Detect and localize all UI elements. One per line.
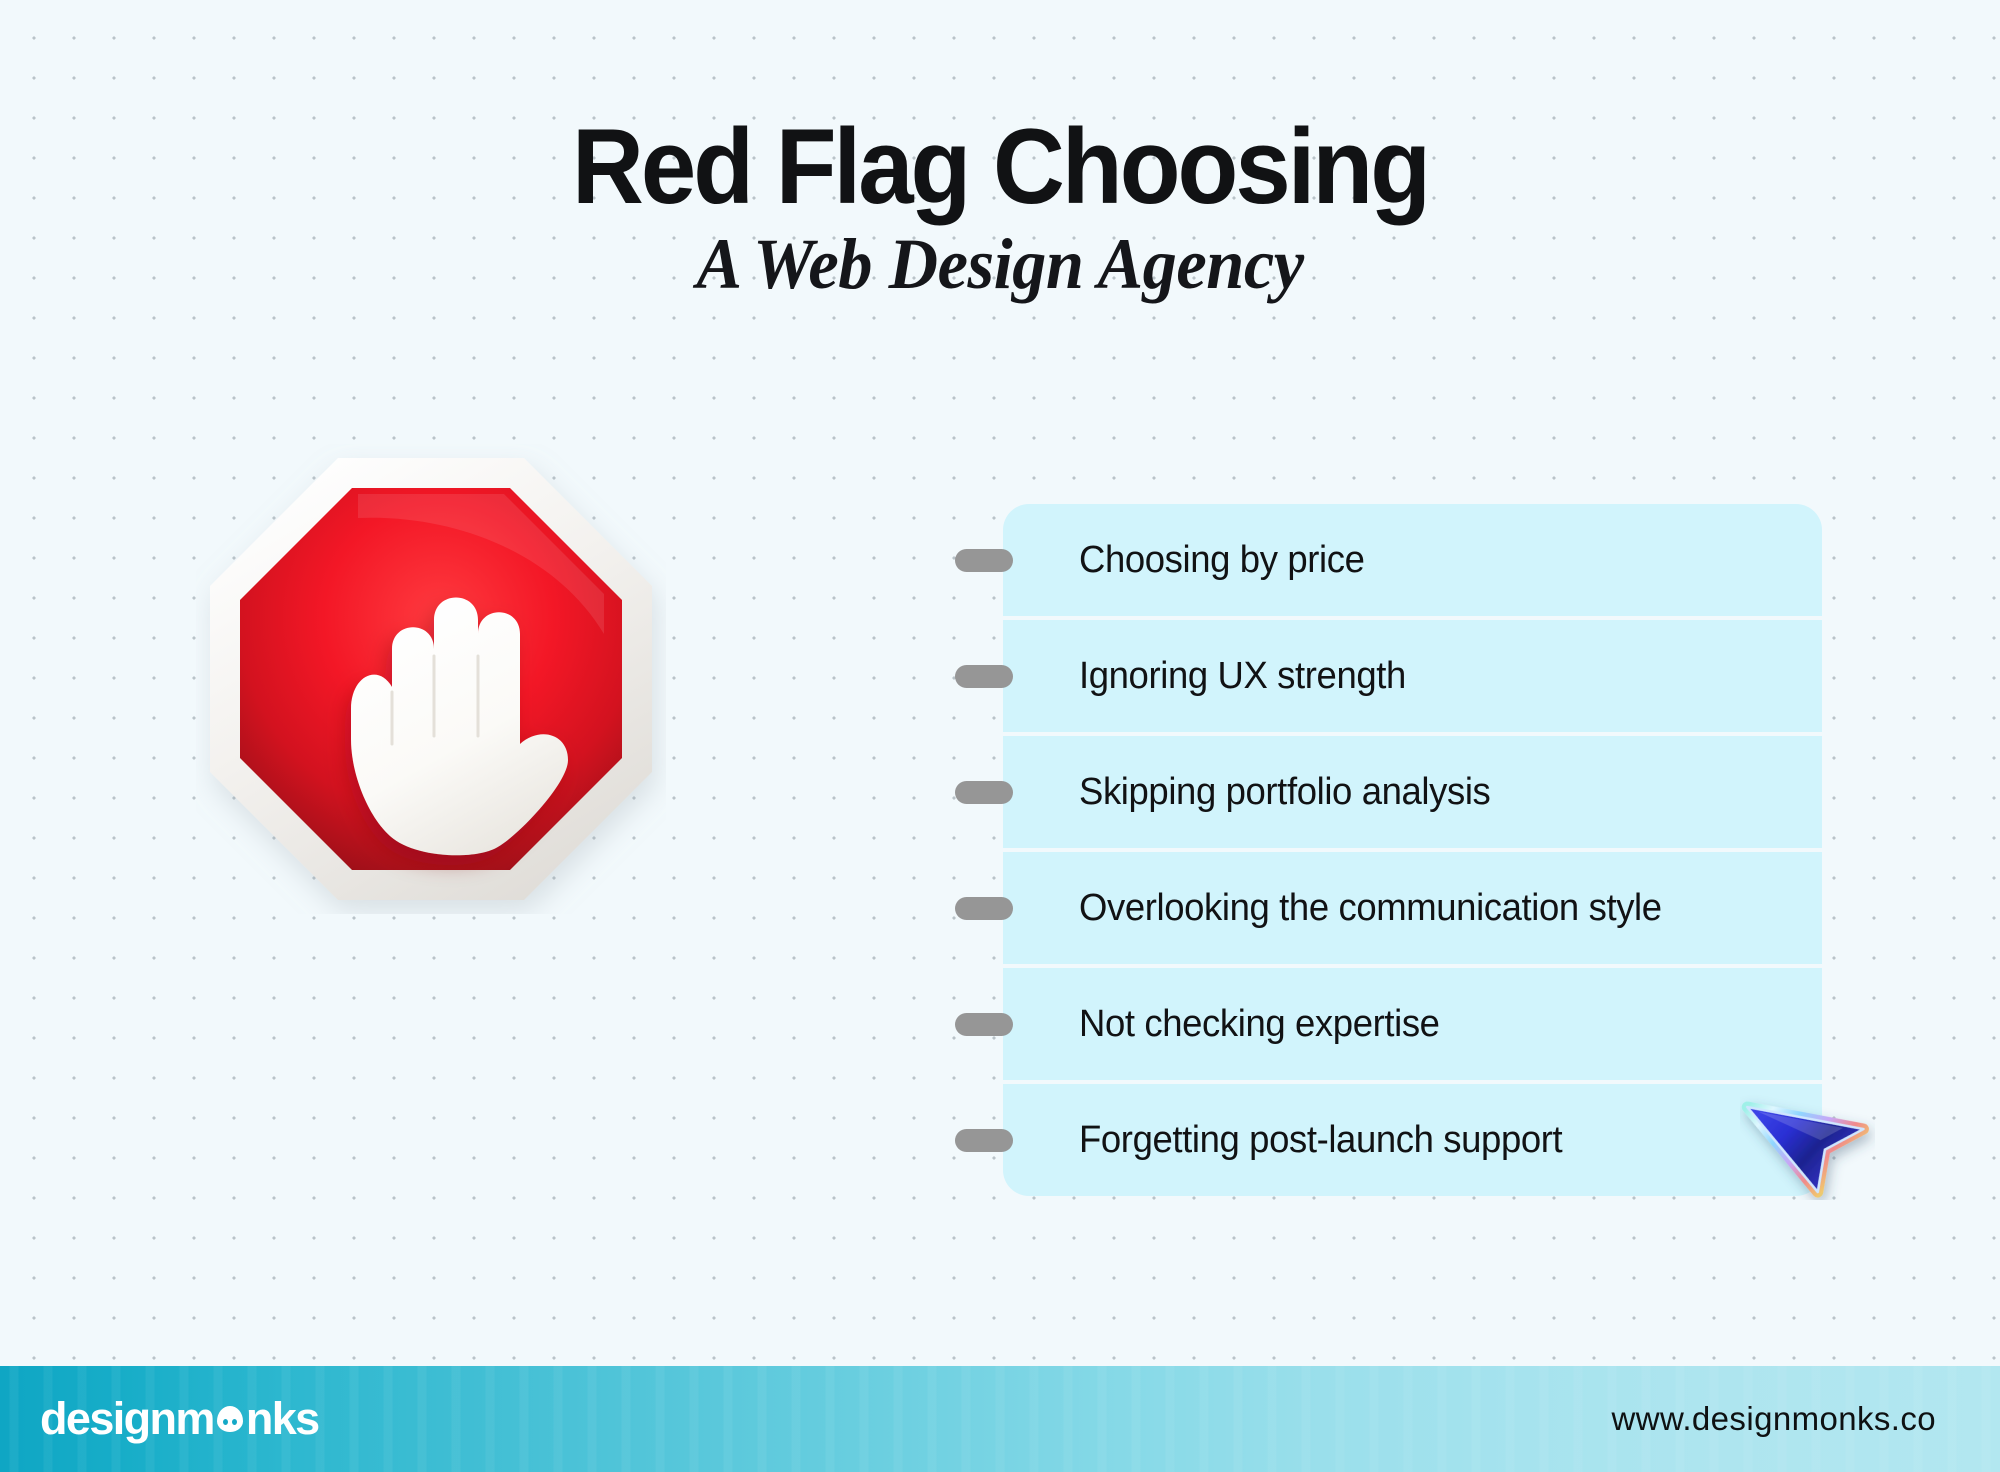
list-item[interactable]: Not checking expertise bbox=[1003, 968, 1822, 1080]
list-item[interactable]: Overlooking the communication style bbox=[1003, 852, 1822, 964]
brand-logo[interactable]: designm nks bbox=[40, 1393, 319, 1445]
bullet-dash-icon bbox=[955, 1129, 1013, 1152]
bullet-dash-icon bbox=[955, 549, 1013, 572]
cursor-arrow-3d-icon bbox=[1740, 1075, 1875, 1200]
brand-logo-prefix: designm bbox=[40, 1393, 214, 1445]
list-item-label: Choosing by price bbox=[1079, 539, 1364, 582]
list-item-label: Overlooking the communication style bbox=[1079, 887, 1662, 930]
list-item-label: Not checking expertise bbox=[1079, 1003, 1440, 1046]
red-flag-list: Choosing by price Ignoring UX strength S… bbox=[1003, 504, 1822, 1196]
bullet-dash-icon bbox=[955, 897, 1013, 920]
footer-bar: designm nks www.designmonks.co bbox=[0, 1366, 2000, 1472]
bullet-dash-icon bbox=[955, 1013, 1013, 1036]
title-block: Red Flag Choosing A Web Design Agency bbox=[0, 112, 2000, 303]
bullet-dash-icon bbox=[955, 781, 1013, 804]
brand-logo-suffix: nks bbox=[246, 1393, 319, 1445]
stop-sign-hand-icon bbox=[196, 444, 666, 914]
infographic-canvas: Red Flag Choosing A Web Design Agency bbox=[0, 0, 2000, 1472]
bullet-dash-icon bbox=[955, 665, 1013, 688]
monk-face-icon bbox=[215, 1404, 245, 1434]
page-title: Red Flag Choosing bbox=[70, 112, 1930, 221]
list-item-label: Forgetting post-launch support bbox=[1079, 1119, 1562, 1162]
list-item[interactable]: Ignoring UX strength bbox=[1003, 620, 1822, 732]
list-item-label: Ignoring UX strength bbox=[1079, 655, 1406, 698]
list-item-label: Skipping portfolio analysis bbox=[1079, 771, 1490, 814]
list-item[interactable]: Skipping portfolio analysis bbox=[1003, 736, 1822, 848]
list-item[interactable]: Choosing by price bbox=[1003, 504, 1822, 616]
page-subtitle: A Web Design Agency bbox=[50, 227, 1950, 303]
list-item[interactable]: Forgetting post-launch support bbox=[1003, 1084, 1822, 1196]
website-url[interactable]: www.designmonks.co bbox=[1611, 1400, 1936, 1438]
